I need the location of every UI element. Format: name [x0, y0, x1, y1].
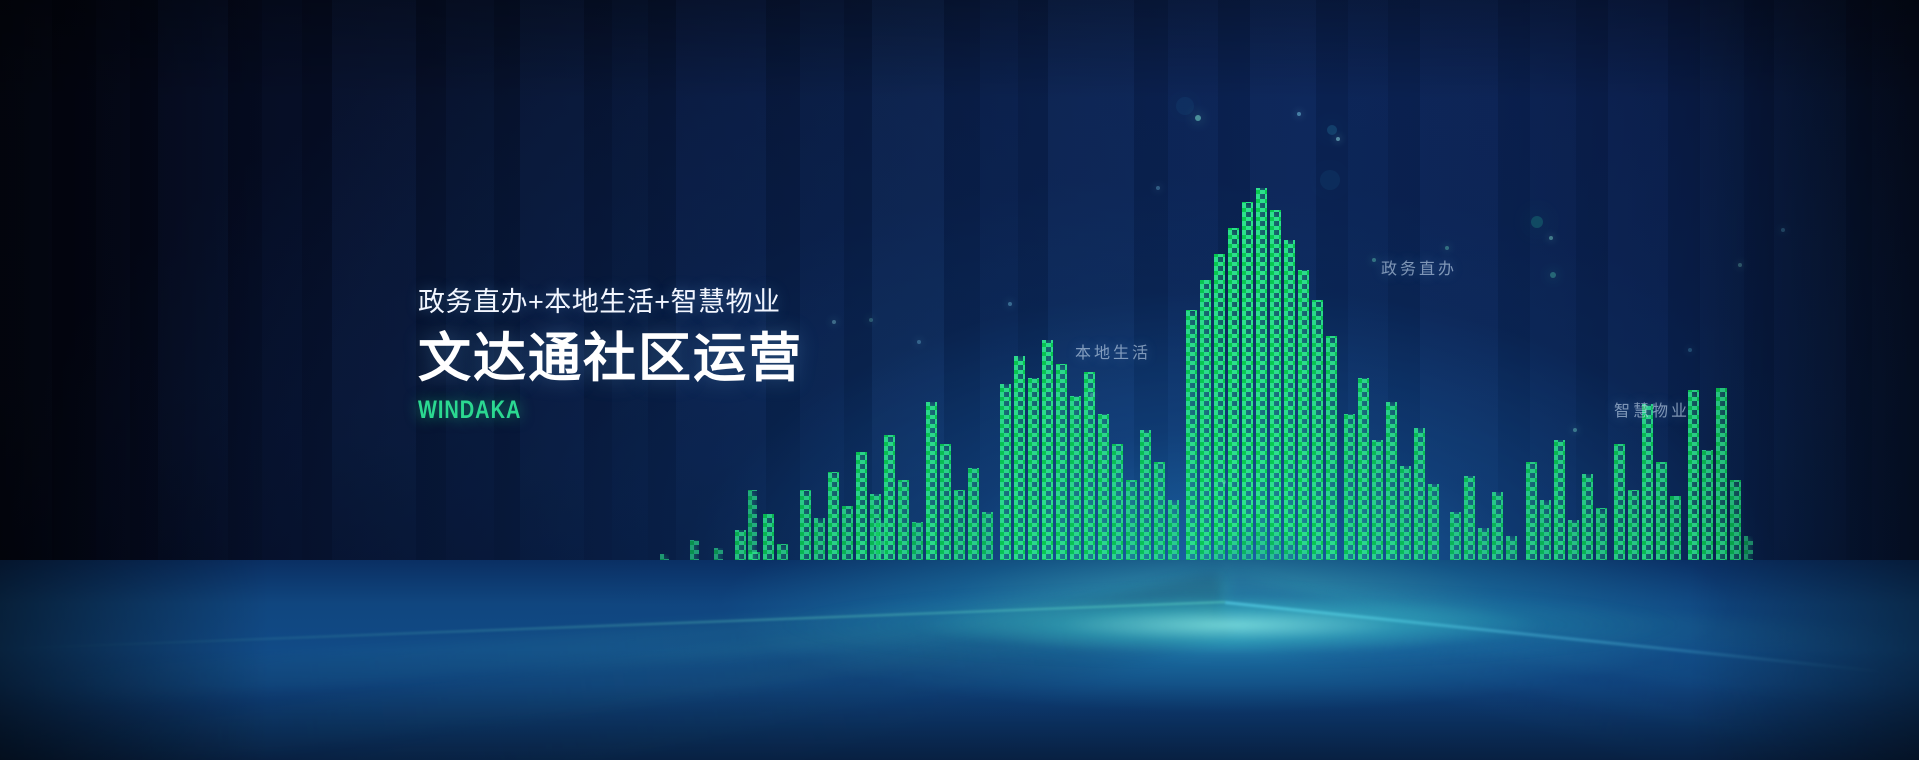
light-particle: [1327, 125, 1337, 135]
light-particle: [1156, 186, 1160, 190]
light-particle: [1222, 480, 1226, 484]
skyline-label-2: 政务直办: [1381, 255, 1457, 279]
light-particle: [1445, 246, 1449, 250]
light-particle: [1176, 97, 1194, 115]
skyline-label-3: 智慧物业: [1614, 397, 1690, 421]
headline-block: 政务直办+本地生活+智慧物业 文达通社区运营 WINDAKA: [418, 288, 803, 425]
light-particle: [1195, 115, 1201, 121]
perspective-ground: [0, 560, 1919, 760]
light-particle: [1372, 258, 1376, 262]
light-particle: [1320, 170, 1340, 190]
light-particle: [917, 340, 921, 344]
light-particle: [1008, 302, 1012, 306]
light-particle: [1781, 228, 1785, 232]
banner-stage: 本地生活政务直办智慧物业 政务直办+本地生活+智慧物业 文达通社区运营 WIND…: [0, 0, 1919, 760]
light-particle: [1550, 272, 1556, 278]
light-particle: [1549, 236, 1553, 240]
dot-matrix-skyline: [0, 0, 1919, 640]
light-particle: [1738, 263, 1742, 267]
skyline-label-1: 本地生活: [1075, 339, 1151, 363]
brand-wordmark: WINDAKA: [418, 396, 726, 425]
light-particle: [1531, 216, 1543, 228]
light-particle: [1336, 137, 1340, 141]
light-particle: [832, 320, 836, 324]
light-particle: [869, 318, 873, 322]
banner-subtitle: 政务直办+本地生活+智慧物业: [418, 288, 803, 318]
light-particle: [1688, 348, 1692, 352]
light-particle: [1297, 112, 1301, 116]
light-particle: [1573, 428, 1577, 432]
banner-title: 文达通社区运营: [418, 330, 803, 387]
horizon-glow: [780, 580, 1680, 670]
light-particle: [1090, 393, 1094, 397]
